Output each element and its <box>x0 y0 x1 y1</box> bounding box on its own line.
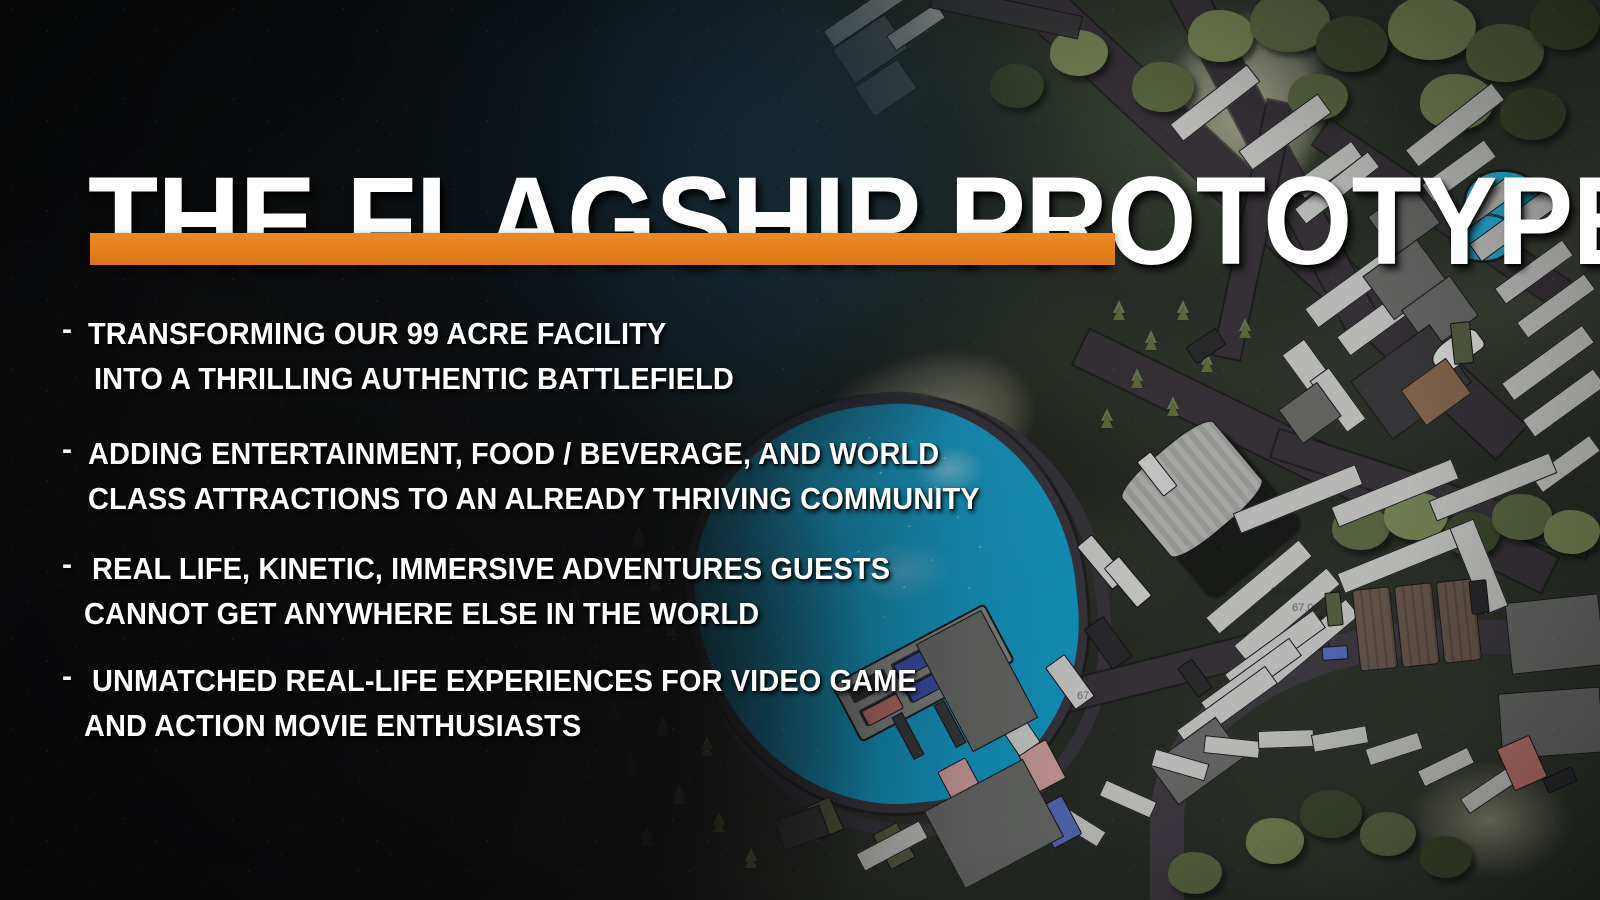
bullet-2-line-2: CLASS ATTRACTIONS TO AN ALREADY THRIVING… <box>88 477 980 522</box>
accent-rule-divider <box>90 233 1115 265</box>
bullet-marker-icon: - <box>62 547 88 583</box>
bullet-3-line-1: REAL LIFE, KINETIC, IMMERSIVE ADVENTURES… <box>92 547 890 592</box>
bullet-marker-icon: - <box>62 312 88 348</box>
bullet-text-group-3: REAL LIFE, KINETIC, IMMERSIVE ADVENTURES… <box>88 547 932 637</box>
bullet-4-line-2: AND ACTION MOVIE ENTHUSIASTS <box>84 704 916 749</box>
bullet-text-group-1: TRANSFORMING OUR 99 ACRE FACILITY INTO A… <box>88 312 768 402</box>
bullet-item-4: - UNMATCHED REAL-LIFE EXPERIENCES FOR VI… <box>0 659 960 749</box>
bullet-item-2: - ADDING ENTERTAINMENT, FOOD / BEVERAGE,… <box>0 432 1027 522</box>
bullet-2-line-1: ADDING ENTERTAINMENT, FOOD / BEVERAGE, A… <box>88 432 980 477</box>
bullet-4-line-1: UNMATCHED REAL-LIFE EXPERIENCES FOR VIDE… <box>92 659 917 704</box>
bullet-text-group-2: ADDING ENTERTAINMENT, FOOD / BEVERAGE, A… <box>88 432 1027 522</box>
bullet-item-1: - TRANSFORMING OUR 99 ACRE FACILITY INTO… <box>0 312 768 402</box>
bullet-1-line-2: INTO A THRILLING AUTHENTIC BATTLEFIELD <box>94 357 734 402</box>
slide-content: THE FLAGSHIP PROTOTYPE - TRANSFORMING OU… <box>0 0 1600 900</box>
bullet-marker-icon: - <box>62 432 88 468</box>
bullet-text-group-4: UNMATCHED REAL-LIFE EXPERIENCES FOR VIDE… <box>88 659 960 749</box>
bullet-3-line-2: CANNOT GET ANYWHERE ELSE IN THE WORLD <box>84 592 890 637</box>
bullet-item-3: - REAL LIFE, KINETIC, IMMERSIVE ADVENTUR… <box>0 547 932 637</box>
slide-title: THE FLAGSHIP PROTOTYPE <box>88 158 1600 286</box>
presentation-slide: 16.00 67.00 67 THE FLAGSHIP PROTOTYPE - … <box>0 0 1600 900</box>
bullet-marker-icon: - <box>62 659 88 695</box>
bullet-1-line-1: TRANSFORMING OUR 99 ACRE FACILITY <box>88 312 734 357</box>
